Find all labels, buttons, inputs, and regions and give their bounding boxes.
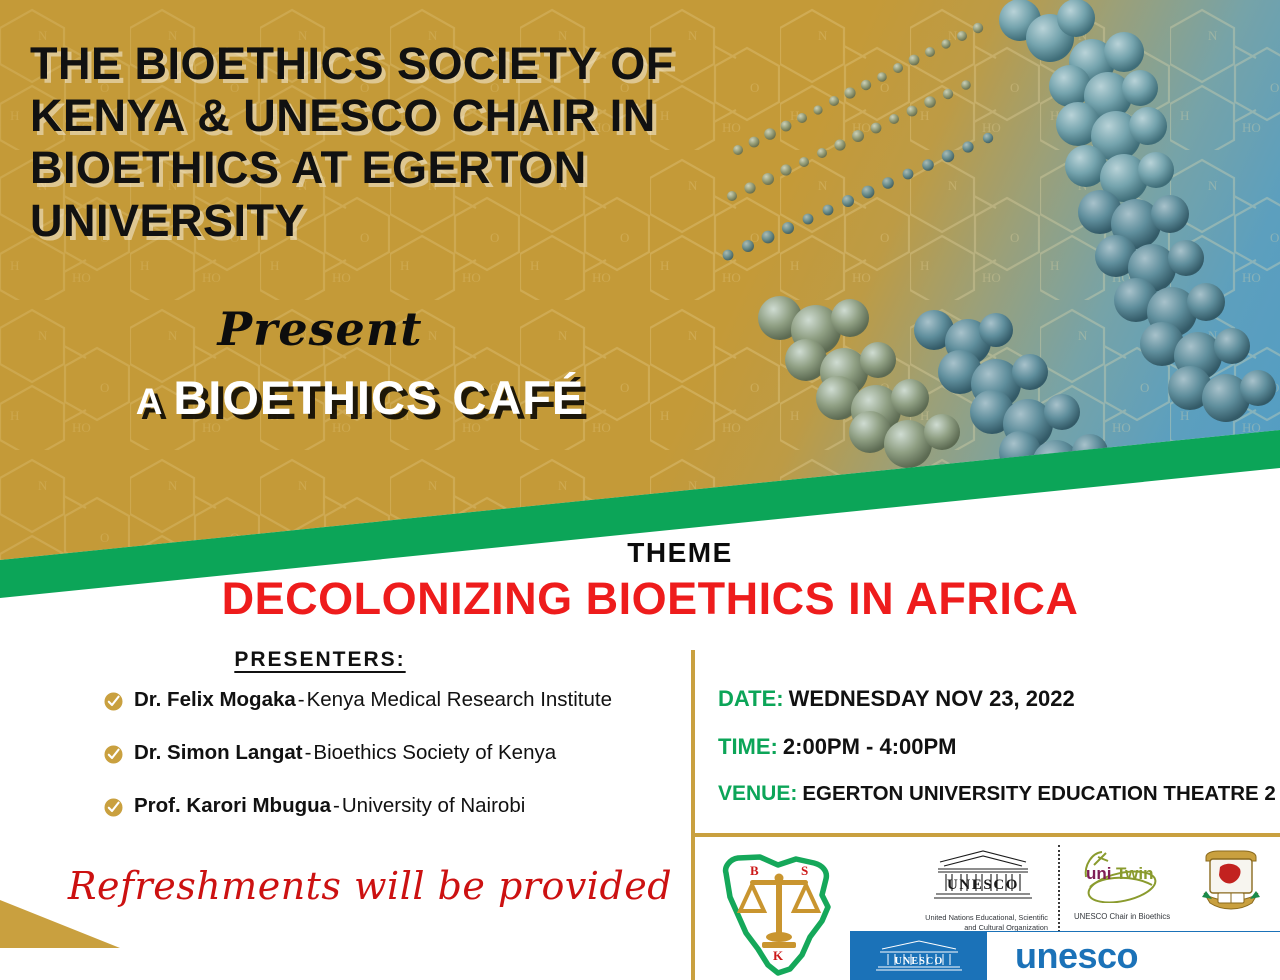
presenter-list: Dr. Felix Mogaka - Kenya Medical Researc… (104, 688, 684, 847)
poster-canvas: N O H HO (0, 0, 1280, 980)
unesco-wordmark: UNESCO (947, 877, 1019, 893)
presenter-organization: Bioethics Society of Kenya (313, 741, 556, 765)
venue-label: VENUE: (718, 782, 797, 805)
presenter-organization: University of Nairobi (342, 794, 525, 818)
corner-triangle-decoration (0, 892, 120, 952)
date-row: DATE:WEDNESDAY NOV 23, 2022 (718, 686, 1280, 712)
unesco-banner-logo: UNESCO unesco (850, 931, 1280, 980)
bsk-letter-k: K (773, 948, 784, 963)
date-label: DATE: (718, 686, 784, 711)
vertical-divider (691, 650, 695, 980)
list-item: Dr. Simon Langat - Bioethics Society of … (104, 741, 684, 765)
venue-row: VENUE:EGERTON UNIVERSITY EDUCATION THEAT… (718, 782, 1280, 806)
horizontal-divider (691, 833, 1280, 837)
theme-text: DECOLONIZING BIOETHICS IN AFRICA (40, 573, 1260, 625)
unesco-banner-wordmark: unesco (987, 932, 1280, 980)
logo-strip: B S K (700, 843, 1280, 980)
dotted-divider (1058, 845, 1060, 940)
event-details: DATE:WEDNESDAY NOV 23, 2022 TIME:2:00PM … (718, 686, 1280, 806)
unesco-temple-icon: UNESCO (918, 847, 1048, 905)
check-circle-icon (104, 745, 123, 764)
presenter-separator: - (303, 741, 314, 765)
unesco-temple-icon: UNESCO (864, 939, 974, 973)
time-row: TIME:2:00PM - 4:00PM (718, 734, 1280, 760)
refreshments-note: Refreshments will be provided (60, 864, 680, 908)
check-circle-icon (104, 798, 123, 817)
presenters-heading: PRESENTERS: (120, 648, 520, 672)
date-value: WEDNESDAY NOV 23, 2022 (789, 686, 1075, 711)
theme-label: THEME (360, 537, 1000, 569)
unitwin-wordmark-uni: uni (1086, 864, 1112, 883)
presenter-name: Dr. Simon Langat (134, 741, 303, 765)
university-crest-logo (1192, 847, 1270, 919)
presenter-separator: - (331, 794, 342, 818)
unitwin-globe-icon: uni Twin (1072, 847, 1180, 903)
venue-value: EGERTON UNIVERSITY EDUCATION THEATRE 2 (802, 782, 1275, 805)
list-item: Dr. Felix Mogaka - Kenya Medical Researc… (104, 688, 684, 712)
banner-temple-box: UNESCO (851, 932, 987, 980)
time-label: TIME: (718, 734, 778, 759)
bsk-letter-s: S (801, 863, 808, 878)
present-word: Present (0, 302, 640, 356)
list-item: Prof. Karori Mbugua - University of Nair… (104, 794, 684, 818)
time-value: 2:00PM - 4:00PM (783, 734, 957, 759)
unitwin-logo: uni Twin UNESCO Chair in Bioethics (1072, 847, 1184, 923)
check-circle-icon (104, 692, 123, 711)
bsk-logo: B S K (710, 845, 852, 977)
event-title: A BIOETHICS CAFÉ (0, 370, 720, 425)
unitwin-wordmark-twin: Twin (1116, 864, 1153, 883)
presenter-separator: - (296, 688, 307, 712)
event-title-article: A (136, 381, 174, 422)
banner-temple-wordmark: UNESCO (895, 956, 944, 967)
unesco-logo: UNESCO United Nations Educational, Scien… (918, 847, 1048, 933)
presenter-organization: Kenya Medical Research Institute (307, 688, 612, 712)
presenter-name: Prof. Karori Mbugua (134, 794, 331, 818)
bsk-letter-b: B (750, 863, 759, 878)
unitwin-caption: UNESCO Chair in Bioethics (1072, 912, 1184, 923)
unesco-caption: United Nations Educational, Scientific a… (918, 913, 1048, 933)
presenter-name: Dr. Felix Mogaka (134, 688, 296, 712)
event-title-main: BIOETHICS CAFÉ (173, 371, 584, 424)
page-title: THE BIOETHICS SOCIETY OF KENYA & UNESCO … (30, 38, 830, 247)
